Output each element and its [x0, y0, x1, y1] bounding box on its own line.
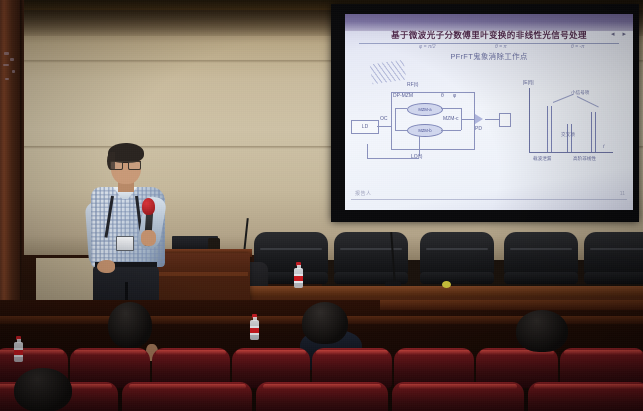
diagram-sub-mzm-b: MZM-b — [407, 124, 443, 137]
presentation-photo-scene: 基于微波光子分数傅里叶变换的非线性光信号处理 ◂ ▸ PFrFT鬼象消除工作点 … — [0, 0, 643, 411]
slide-formula-3: θ = -π — [571, 44, 584, 50]
diagram-block-dpmzm-outline — [391, 92, 475, 150]
slide-page-number: 11 — [620, 191, 625, 197]
slide-nav-arrows-icon[interactable]: ◂ ▸ — [611, 30, 629, 38]
spectrum-xlabel: f — [603, 144, 604, 149]
name-badge — [116, 236, 134, 251]
spectrum-stem-3 — [591, 112, 596, 152]
spectrum-annotation-2: 载波泄漏 — [533, 156, 551, 162]
spectrum-stem-2 — [567, 124, 572, 152]
diagram-label-mzmc: MZM-c — [443, 116, 459, 122]
slide-footer-rule — [351, 199, 627, 200]
audience-member-head — [516, 310, 568, 352]
slide-subtitle: PFrFT鬼象消除工作点 — [345, 51, 633, 62]
water-bottle — [294, 262, 303, 288]
presenter-left-hand — [97, 260, 115, 273]
spectrum-ylabel: |E(f)| — [523, 80, 534, 86]
audience-member-head — [108, 302, 152, 348]
eyeglasses-lens-right — [128, 161, 141, 170]
spectrum-stem-1 — [547, 106, 552, 152]
audience-member-head — [302, 302, 348, 344]
slide-formula-1: φ = π/2 — [419, 44, 435, 50]
chair — [504, 232, 578, 292]
diagram-hatch-pattern — [370, 60, 406, 85]
slide-formula-2: θ = π — [495, 44, 507, 50]
auditorium-seat — [256, 382, 388, 411]
audience-rail-upper — [380, 300, 643, 310]
left-wood-pillar — [0, 0, 22, 330]
chair — [420, 232, 494, 292]
slide-spectrum-plot: |E(f)| f 小信号项 载波泄漏 高阶非线性 交叉项 — [507, 66, 625, 184]
auditorium-seat — [122, 382, 252, 411]
water-bottle — [14, 336, 23, 362]
diagram-sub-mzm-a: MZM-a — [407, 103, 443, 116]
presenter-right-hand — [141, 230, 156, 246]
yellow-object-on-table — [442, 281, 451, 288]
spectrum-annotation-4: 交叉项 — [561, 132, 575, 138]
spectrum-annotation-3: 高阶非线性 — [573, 156, 596, 162]
audience-member-head — [14, 368, 72, 411]
diagram-label-oc: OC — [380, 116, 388, 122]
diagram-label-pd: PD — [475, 126, 482, 132]
projection-screen: 基于微波光子分数傅里叶变换的非线性光信号处理 ◂ ▸ PFrFT鬼象消除工作点 … — [345, 14, 633, 210]
diagram-label-phi: φ — [453, 93, 456, 99]
diagram-edfa-amp-icon — [475, 114, 483, 124]
diagram-label-dpmzm: DP-MZM — [393, 93, 413, 99]
water-bottle — [250, 314, 259, 340]
eyeglasses-lens-left — [110, 161, 123, 170]
presenter — [85, 142, 175, 322]
diagram-label-rf: RF(t) — [407, 82, 418, 88]
diagram-label-lo: LO(t) — [411, 154, 422, 160]
slide-footer-text: 报告人 — [355, 190, 372, 197]
diagram-block-ld: LD — [351, 120, 379, 134]
spectrum-annotation-1: 小信号项 — [571, 90, 589, 96]
handheld-microphone-head — [142, 198, 155, 215]
slide-title: 基于微波光子分数傅里叶变换的非线性光信号处理 — [345, 29, 633, 41]
auditorium-seat — [528, 382, 643, 411]
slide-block-diagram: RF(t) LD OC DP-MZM θ φ MZM-a MZM-b MZM-c… — [349, 62, 509, 192]
chair — [584, 232, 643, 292]
auditorium-seat — [392, 382, 524, 411]
diagram-label-theta: θ — [441, 93, 444, 99]
